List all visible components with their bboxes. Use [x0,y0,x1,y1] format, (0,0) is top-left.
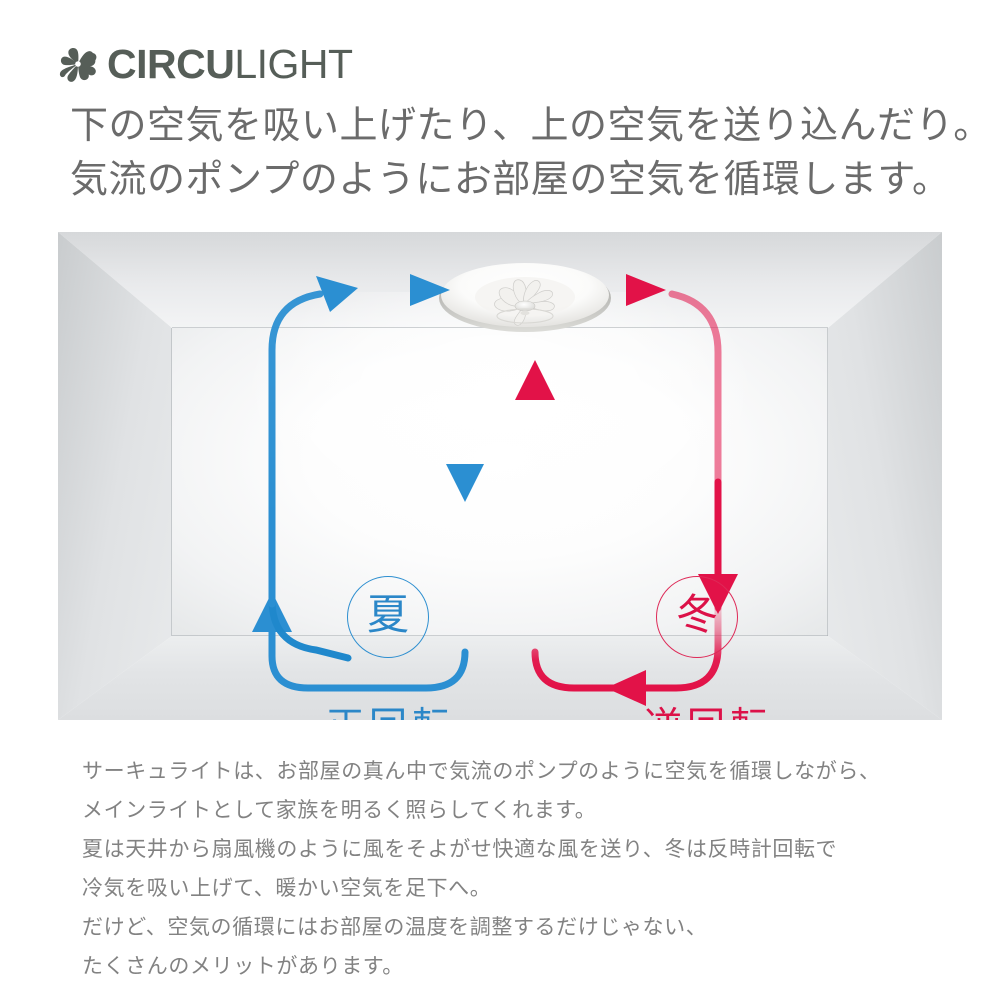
blue-left-riser [272,294,320,604]
season-badge-winter-label: 冬 [676,595,718,637]
logo-light-text: LIGHT [234,41,352,87]
body-line-6: たくさんのメリットがあります。 [82,947,962,986]
headline-line-1: 下の空気を吸い上げたり、上の空気を送り込んだり。 [70,100,950,154]
season-badge-summer-label: 夏 [367,595,409,637]
logo-bold-text: CIRCU [107,41,234,87]
body-line-5: だけど、空気の循環にはお部屋の温度を調整するだけじゃない、 [82,908,962,947]
infographic-page: CIRCULIGHT 下の空気を吸い上げたり、上の空気を送り込んだり。 気流のポ… [0,0,1000,1000]
room-diagram-photo: 夏 冬 正回転 逆回転 ファンの風が お部屋に届く 下の空気を吸い込んで 循環さ… [58,232,942,720]
season-badge-winter: 冬 [656,576,738,658]
body-line-2: メインライトとして家族を明るく照らしてくれます。 [82,791,962,830]
red-ceiling-arrowhead [626,274,666,306]
body-line-4: 冷気を吸い上げて、暖かい空気を足下へ。 [82,869,962,908]
rotation-label-summer: 正回転 [326,695,455,720]
body-line-3: 夏は天井から扇風機のように風をそよがせ快適な風を送り、冬は反時計回転で [82,830,962,869]
headline-line-2: 気流のポンプのようにお部屋の空気を循環します。 [70,154,950,208]
red-right-wall-stream [672,294,718,608]
body-line-1: サーキュライトは、お部屋の真ん中で気流のポンプのように空気を循環しながら、 [82,752,962,791]
blue-down-arrowhead [446,464,484,502]
logo-wordmark: CIRCULIGHT [107,44,353,85]
fan-pinwheel-icon [58,44,98,84]
red-up-arrowhead [515,360,555,400]
brand-logo: CIRCULIGHT [58,38,353,90]
season-badge-summer: 夏 [347,576,429,658]
headline: 下の空気を吸い上げたり、上の空気を送り込んだり。 気流のポンプのようにお部屋の空… [70,100,950,208]
blue-fan-inlet-arrowhead [410,274,450,306]
rotation-label-winter: 逆回転 [644,695,773,720]
blue-left-wall-stream [272,348,348,658]
body-copy: サーキュライトは、お部屋の真ん中で気流のポンプのように空気を循環しながら、 メイ… [82,752,962,986]
red-floor-arrowhead [606,670,646,706]
airflow-arrows [58,232,942,720]
